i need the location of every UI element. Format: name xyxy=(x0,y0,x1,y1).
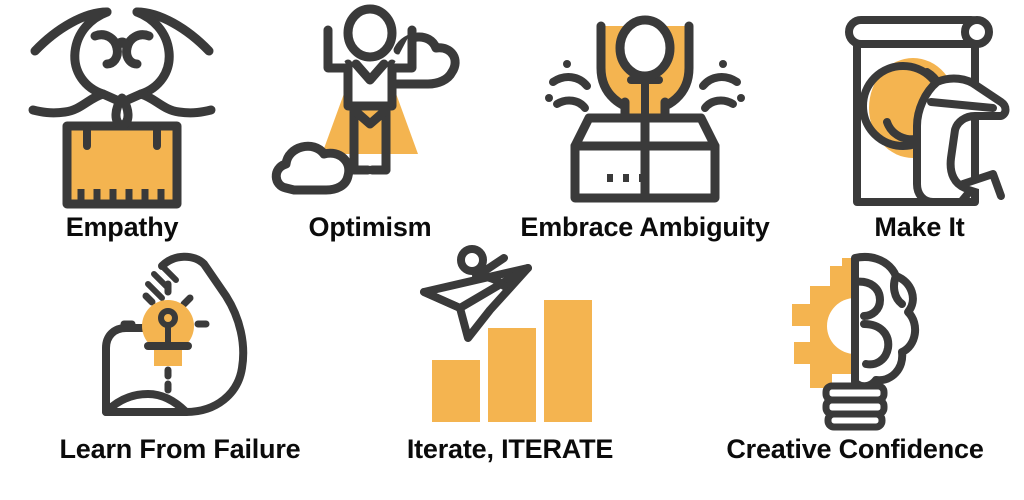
flexed-bicep-lightbulb-icon xyxy=(90,252,270,430)
mindset-label: Learn From Failure xyxy=(60,436,301,463)
mindset-card-learn-from-failure: Learn From Failure xyxy=(20,252,340,463)
mindset-label: Iterate, ITERATE xyxy=(407,436,613,463)
mindset-card-creative-confidence: Creative Confidence xyxy=(686,252,1024,463)
design-thinking-mindsets-poster: Empathy xyxy=(0,0,1024,500)
mindset-label: Make It xyxy=(874,214,964,241)
mindset-card-iterate: Iterate, ITERATE xyxy=(382,252,638,463)
mindset-label: Empathy xyxy=(66,214,179,241)
person-popping-out-of-box-icon xyxy=(545,6,745,206)
hand-drawing-on-flipchart-icon xyxy=(825,6,1015,206)
mindset-card-optimism: Optimism xyxy=(256,6,484,241)
mindset-card-make-it: Make It xyxy=(815,6,1024,241)
hands-heart-shopping-bag-icon xyxy=(29,6,215,206)
mindset-label: Embrace Ambiguity xyxy=(520,214,769,241)
mindset-card-empathy: Empathy xyxy=(8,6,236,241)
gear-brain-lightbulb-icon xyxy=(780,252,930,430)
paper-plane-rising-bars-icon xyxy=(420,252,600,430)
mindset-label: Creative Confidence xyxy=(726,436,983,463)
superhero-flying-clouds-icon xyxy=(270,6,470,206)
mindset-label: Optimism xyxy=(309,214,432,241)
mindset-card-embrace-ambiguity: Embrace Ambiguity xyxy=(500,6,790,241)
